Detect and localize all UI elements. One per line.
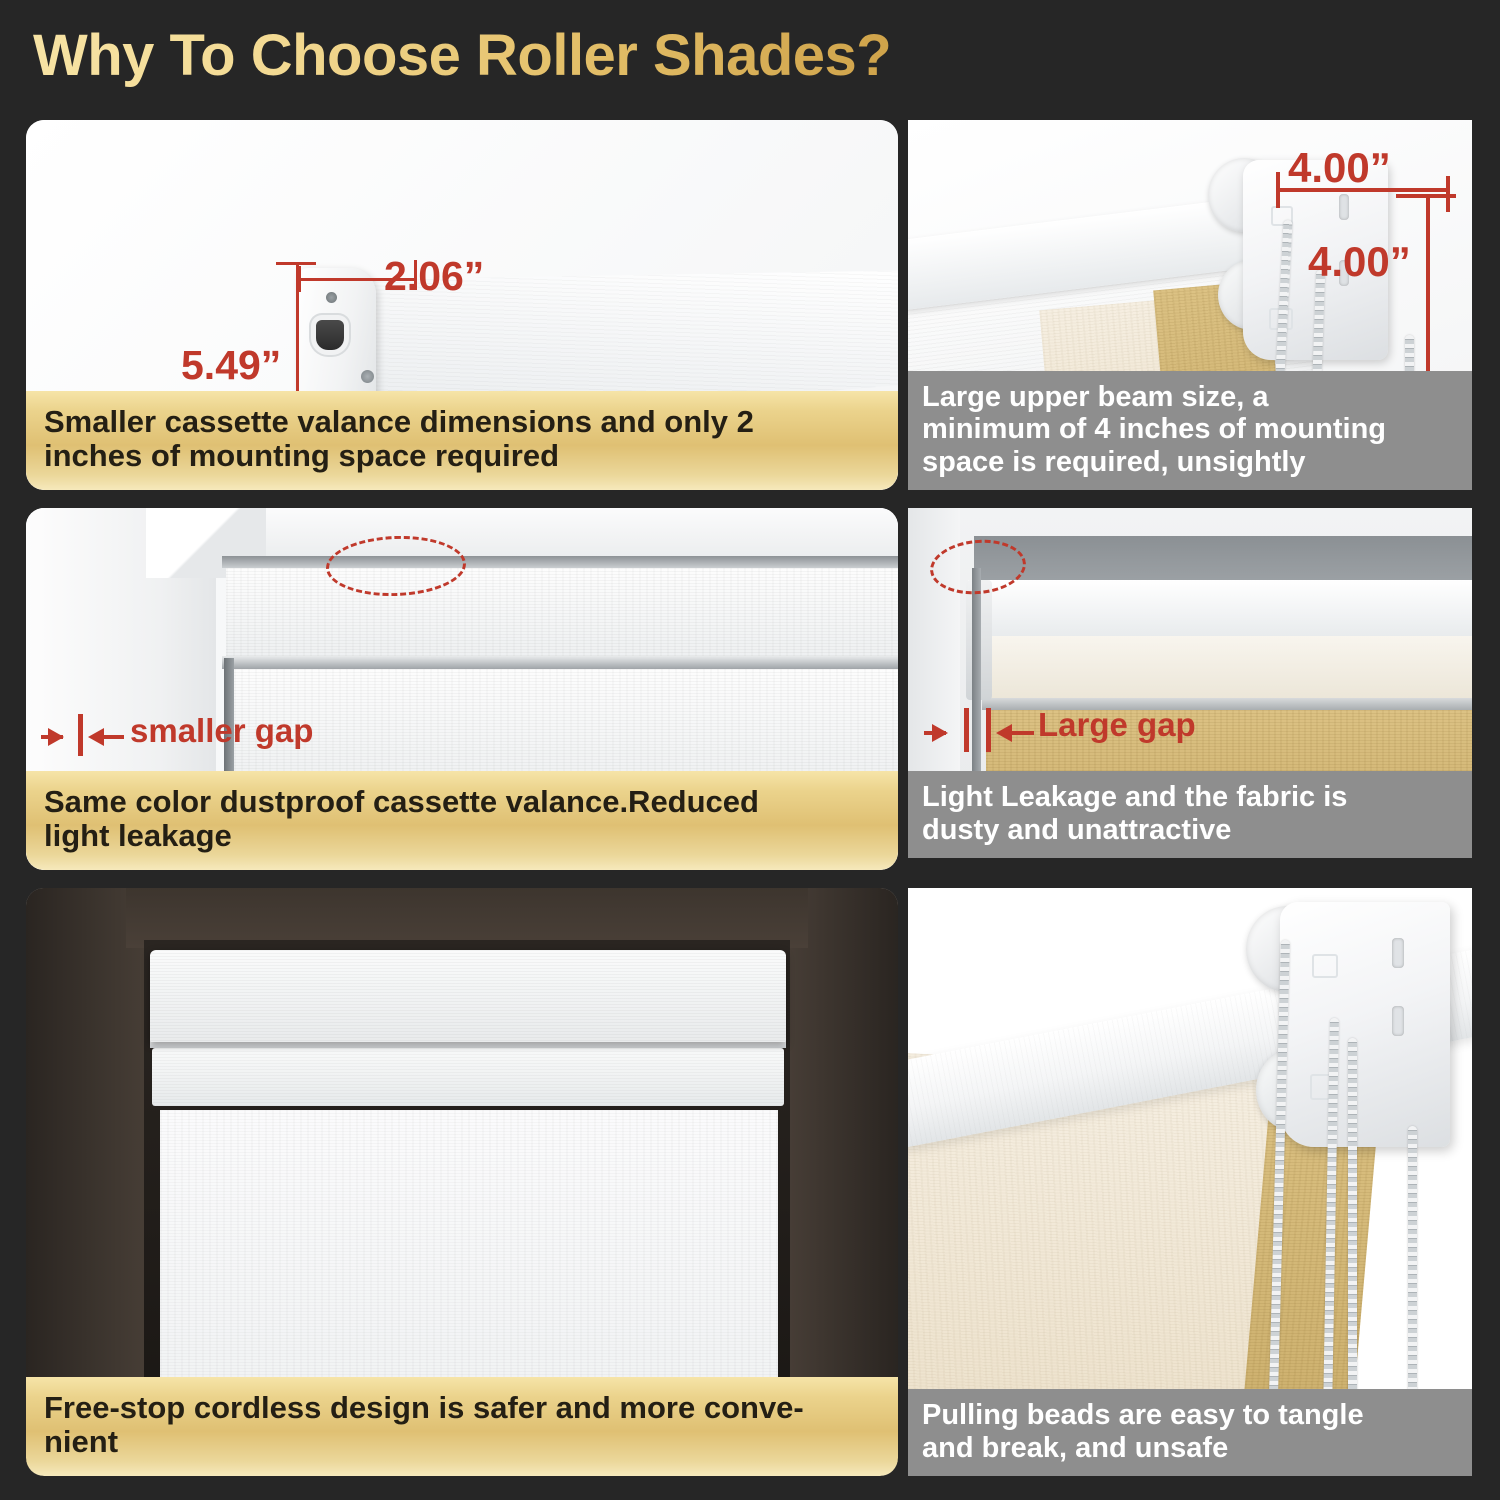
width-dimension-label: 2.06” [384, 253, 484, 300]
height-dimension-tick-top [1396, 194, 1456, 198]
width-dimension-label: 4.00” [1288, 144, 1391, 192]
cassette-edge [222, 556, 898, 568]
mounting-bracket [1280, 902, 1450, 1147]
height-dimension-label: 5.49” [181, 342, 281, 389]
caption-line: dusty and unattractive [922, 814, 1458, 846]
caption-line: Free-stop cordless design is safer and m… [44, 1391, 880, 1426]
beaded-chain-photo [908, 888, 1472, 1476]
caption-line: Large upper beam size, a [922, 381, 1458, 413]
gap-arrow-right-shaft [104, 735, 124, 739]
caption-line: Light Leakage and the fabric is [922, 781, 1458, 813]
panel-2-right: Large gap Light Leakage and the fabric i… [908, 508, 1472, 858]
gap-arrow-left-shaft [41, 735, 63, 739]
window-frame-top [176, 508, 898, 556]
panel-1-right-caption: Large upper beam size, a minimum of 4 in… [908, 371, 1472, 490]
gap-callout-label: Large gap [1038, 706, 1196, 744]
comparison-grid: 2.06” 5.49” Smaller cassette valance dim… [0, 0, 1500, 1500]
caption-line: space is required, unsightly [922, 446, 1458, 478]
gap-mark [964, 708, 969, 752]
caption-line: Smaller cassette valance dimensions and … [44, 405, 880, 440]
screw-icon [361, 370, 374, 383]
gap-arrow-right-shaft [1012, 731, 1034, 735]
caption-line: minimum of 4 inches of mounting [922, 413, 1458, 445]
cassette-valance [150, 950, 786, 1042]
gap-arrow-left-shaft [924, 731, 946, 735]
panel-3-right-caption: Pulling beads are easy to tangle and bre… [908, 1389, 1472, 1476]
gap-arrow-right-icon [88, 728, 104, 746]
panel-1-right: 4.00” 4.00” Large upper beam size, a min… [908, 120, 1472, 490]
caption-line: light leakage [44, 819, 880, 854]
panel-3-right: Pulling beads are easy to tangle and bre… [908, 888, 1472, 1476]
caption-line: and break, and unsafe [922, 1432, 1458, 1464]
gap-mark [78, 714, 83, 756]
upper-beam [968, 580, 1472, 642]
panel-2-left: smaller gap Same color dustproof cassett… [26, 508, 898, 870]
screw-icon [326, 292, 337, 303]
panel-2-left-caption: Same color dustproof cassette valance.Re… [26, 771, 898, 870]
valance-band [226, 568, 898, 658]
window-header [126, 888, 808, 948]
height-dimension-label: 4.00” [1308, 238, 1411, 286]
gap-arrow-right-icon [996, 724, 1012, 742]
caption-line: nient [44, 1425, 880, 1460]
height-dimension-tick-top [276, 262, 316, 265]
width-dimension-tick-left [1276, 172, 1280, 208]
panel-3-left: Free-stop cordless design is safer and m… [26, 888, 898, 1476]
caption-line: Pulling beads are easy to tangle [922, 1399, 1458, 1431]
roller-rail [222, 656, 898, 669]
panel-1-left: 2.06” 5.49” Smaller cassette valance dim… [26, 120, 898, 490]
panel-2-right-caption: Light Leakage and the fabric is dusty an… [908, 771, 1472, 858]
beam-underside [980, 636, 1472, 700]
height-dimension-line [1426, 194, 1430, 382]
caption-line: Same color dustproof cassette valance.Re… [44, 785, 880, 820]
caption-line: inches of mounting space required [44, 439, 880, 474]
gap-callout-label: smaller gap [130, 712, 313, 750]
gap-mark [986, 708, 991, 752]
panel-3-left-caption: Free-stop cordless design is safer and m… [26, 1377, 898, 1476]
panel-1-left-caption: Smaller cassette valance dimensions and … [26, 391, 898, 490]
roller-band [152, 1048, 784, 1106]
